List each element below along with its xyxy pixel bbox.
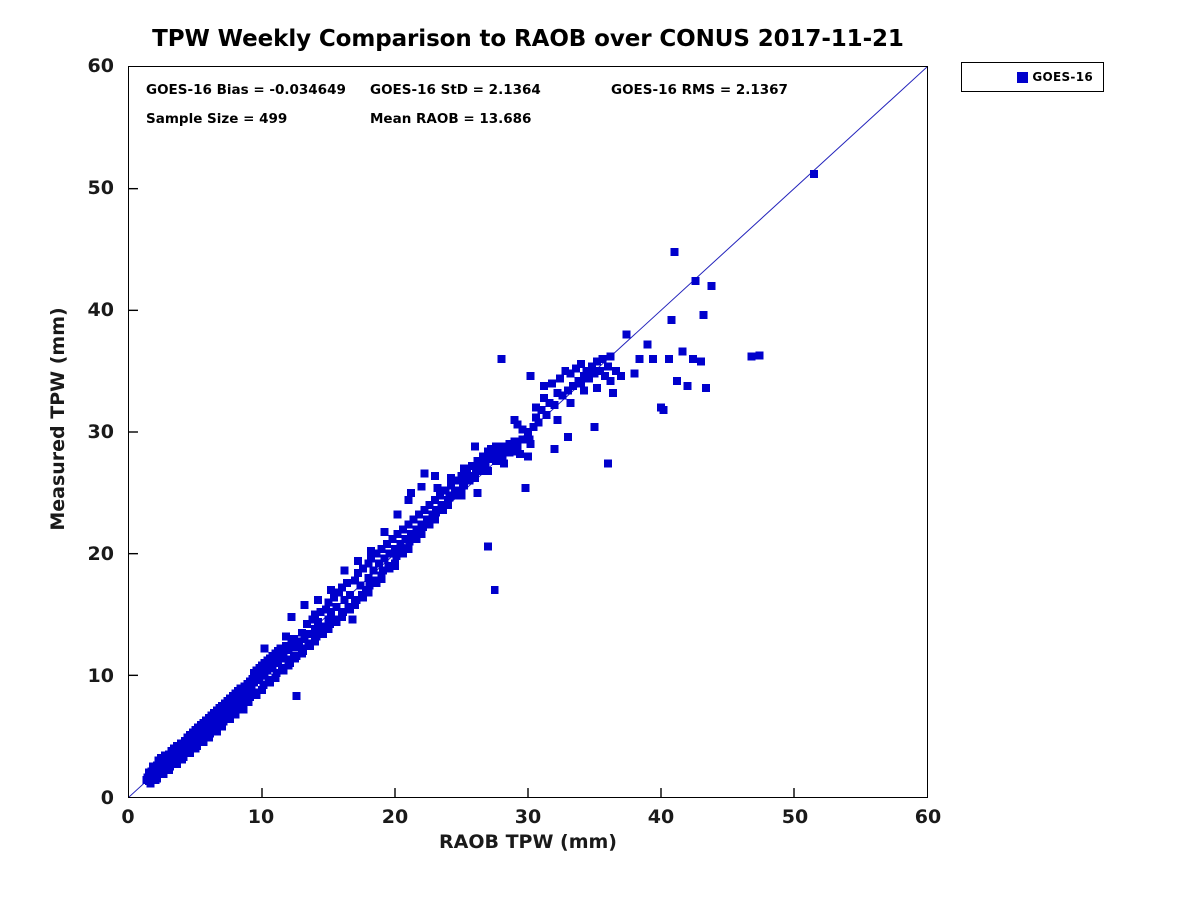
data-points: [142, 170, 818, 788]
xtick-20: 20: [382, 806, 408, 828]
page-title: TPW Weekly Comparison to RAOB over CONUS…: [118, 26, 938, 52]
xtick-0: 0: [121, 806, 134, 828]
ytick-40: 40: [62, 299, 114, 321]
ytick-50: 50: [62, 177, 114, 199]
ytick-0: 0: [62, 787, 114, 809]
ytick-20: 20: [62, 543, 114, 565]
xtick-40: 40: [648, 806, 674, 828]
ytick-30: 30: [62, 421, 114, 443]
ytick-60: 60: [62, 55, 114, 77]
ytick-10: 10: [62, 665, 114, 687]
xtick-50: 50: [782, 806, 808, 828]
chart-figure: TPW Weekly Comparison to RAOB over CONUS…: [0, 0, 1200, 900]
plot-area: [128, 66, 928, 798]
scatter-canvas: [129, 67, 927, 797]
xtick-60: 60: [915, 806, 941, 828]
x-axis-label: RAOB TPW (mm): [128, 831, 928, 853]
legend-label-goes16: GOES-16: [962, 70, 1093, 84]
xtick-30: 30: [515, 806, 541, 828]
legend-box: GOES-16: [961, 62, 1104, 92]
xtick-10: 10: [248, 806, 274, 828]
y-axis-label: Measured TPW (mm): [47, 219, 69, 619]
